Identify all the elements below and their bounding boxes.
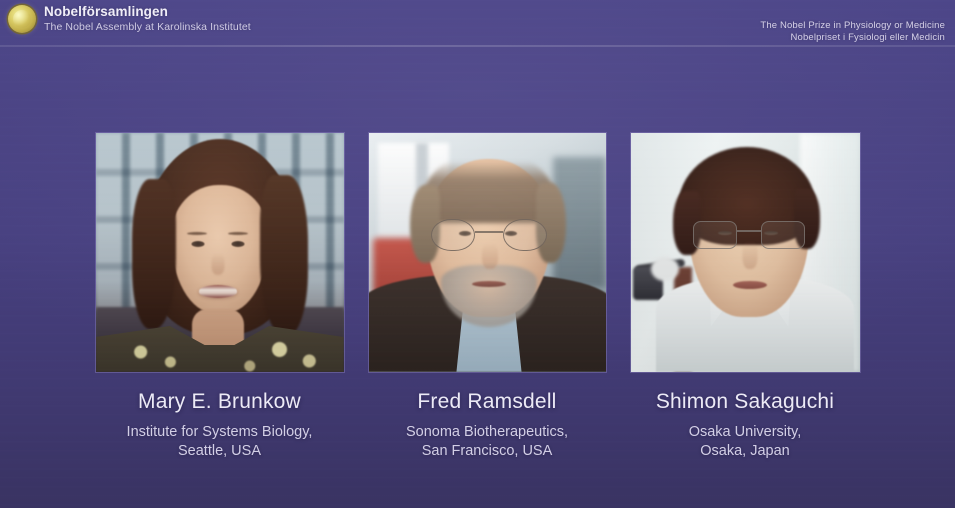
portrait-shimon-sakaguchi <box>631 133 860 372</box>
lens-right <box>503 219 547 251</box>
announcement-slide: Nobelförsamlingen The Nobel Assembly at … <box>0 0 955 508</box>
hair-left-strand <box>132 179 176 329</box>
laureate-affiliation: Institute for Systems Biology, Seattle, … <box>127 423 313 461</box>
hair-right-strand <box>260 175 308 335</box>
microscope-eyepiece <box>651 257 678 281</box>
laureate-card: Shimon Sakaguchi Osaka University, Osaka… <box>631 133 860 461</box>
affiliation-line-1: Osaka University, <box>656 423 834 442</box>
laureate-name: Fred Ramsdell <box>406 390 568 414</box>
laureates-row: Mary E. Brunkow Institute for Systems Bi… <box>0 133 955 461</box>
nobel-medal-icon <box>8 5 36 33</box>
glasses-bridge <box>737 230 761 232</box>
eyebrow-right <box>228 232 248 235</box>
mouth-shape <box>199 285 237 298</box>
affiliation-line-2: Seattle, USA <box>127 442 313 461</box>
portrait-fred-ramsdell <box>369 133 606 372</box>
slide-header: Nobelförsamlingen The Nobel Assembly at … <box>0 0 955 46</box>
header-divider <box>0 45 955 47</box>
laureate-affiliation: Sonoma Biotherapeutics, San Francisco, U… <box>406 423 568 461</box>
prize-name-english: The Nobel Prize in Physiology or Medicin… <box>760 20 945 32</box>
affiliation-line-2: Osaka, Japan <box>656 442 834 461</box>
brand-subtitle: The Nobel Assembly at Karolinska Institu… <box>44 22 251 33</box>
laureate-name: Mary E. Brunkow <box>127 390 313 414</box>
laureate-caption: Shimon Sakaguchi Osaka University, Osaka… <box>656 390 834 461</box>
laureate-caption: Mary E. Brunkow Institute for Systems Bi… <box>127 390 313 461</box>
lens-left <box>693 221 737 249</box>
laureate-affiliation: Osaka University, Osaka, Japan <box>656 423 834 461</box>
nose-shape <box>211 253 224 275</box>
prize-name-block: The Nobel Prize in Physiology or Medicin… <box>760 20 945 44</box>
glasses-bridge <box>475 231 503 233</box>
prize-name-swedish: Nobelpriset i Fysiologi eller Medicin <box>760 32 945 44</box>
affiliation-line-1: Sonoma Biotherapeutics, <box>406 423 568 442</box>
brand-text-block: Nobelförsamlingen The Nobel Assembly at … <box>44 5 251 32</box>
mouth-shape <box>733 281 767 289</box>
laureate-name: Shimon Sakaguchi <box>656 390 834 414</box>
affiliation-line-2: San Francisco, USA <box>406 442 568 461</box>
eyeglasses <box>431 219 547 253</box>
portrait-mary-brunkow <box>96 133 344 372</box>
laureate-caption: Fred Ramsdell Sonoma Biotherapeutics, Sa… <box>406 390 568 461</box>
lens-left <box>431 219 475 251</box>
eyebrow-left <box>187 232 207 235</box>
laureate-card: Mary E. Brunkow Institute for Systems Bi… <box>96 133 344 461</box>
eye-right <box>231 241 244 247</box>
nobel-assembly-brand: Nobelförsamlingen The Nobel Assembly at … <box>8 5 251 33</box>
eyeglasses <box>693 221 805 251</box>
affiliation-line-1: Institute for Systems Biology, <box>127 423 313 442</box>
eye-left <box>191 241 204 247</box>
laureate-card: Fred Ramsdell Sonoma Biotherapeutics, Sa… <box>369 133 606 461</box>
mouth-shape <box>472 281 506 287</box>
lens-right <box>761 221 805 249</box>
brand-title: Nobelförsamlingen <box>44 5 251 19</box>
